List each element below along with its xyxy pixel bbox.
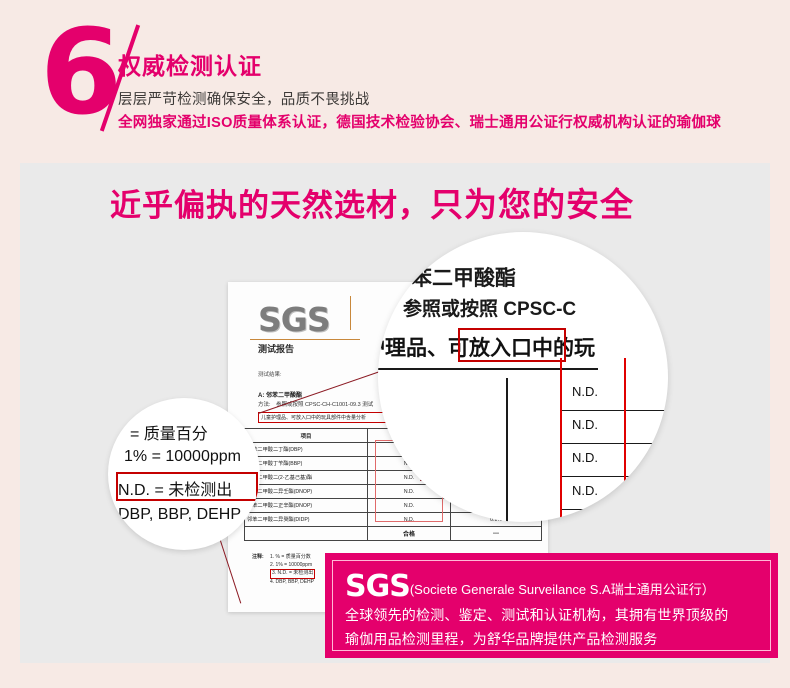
note-item: 1. % = 质量百分数: [270, 554, 315, 562]
banner-inner-border: SGS(Societe Generale Surveilance S.A瑞士通用…: [332, 560, 771, 651]
cell-blank: [245, 527, 368, 541]
cell-conclusion: 合格: [368, 527, 451, 541]
note-item: 2. 1% = 10000ppm: [270, 562, 315, 570]
cell-item: 邻苯二甲酸丁苄酯(BBP): [245, 457, 368, 471]
crosshair-vertical-icon: [350, 296, 351, 330]
magnifier-top-right: 邻苯二甲酸酯 ：参照或按照 CPSC-C 护理品、可放入口中的玩 N.D. N.…: [378, 232, 668, 522]
section-header: 6 权威检测认证 层层严苛检测确保安全，品质不畏挑战 全网独家通过ISO质量体系…: [0, 0, 790, 163]
magnifier-tr-nd-highlight-border: [560, 358, 626, 522]
document-sample-line: A: 邻苯二甲酸酯: [258, 390, 302, 399]
cell-item: 邻苯二甲酸二异壬酯(DNOP): [245, 485, 368, 499]
banner-full-name: (Societe Generale Surveilance S.A瑞士通用公证行…: [410, 579, 715, 598]
magnifier-tr-table-edge: [506, 378, 508, 522]
magnifier-left-highlight-box: [116, 472, 258, 501]
cell-result: N.D.: [368, 513, 451, 527]
magnifier-left: = 质量百分 1% = 10000ppm N.D. = 未检测出 DBP, BB…: [108, 398, 260, 550]
document-notes: 注释: 1. % = 质量百分数 2. 1% = 10000ppm 3. N.D…: [270, 554, 315, 586]
column-header-item: 项目: [245, 429, 368, 443]
note-item-highlighted: 3. N.D. = 未检测出: [270, 569, 315, 579]
table-conclusion-row: 合格 ---: [245, 527, 542, 541]
page-title-normal: 近乎偏执的天然选材，: [110, 188, 430, 223]
header-title: 权威检测认证: [118, 47, 262, 81]
cell-item: 邻苯二甲酸二丁酯(DBP): [245, 443, 368, 457]
cell-item: 邻苯二甲酸二正辛酯(DNOP): [245, 499, 368, 513]
note-item: 4. DBP, BBP, DEHP: [270, 579, 315, 587]
banner-sgs-logo: SGS: [345, 569, 410, 604]
magnifier-tr-highlight-box: [458, 328, 566, 362]
page-title: 近乎偏执的天然选材，只为您的安全: [110, 178, 634, 226]
cell-result: N.D.: [368, 499, 451, 513]
sgs-logo-icon: SGS: [258, 300, 330, 339]
banner-line3: 瑜伽用品检测里程，为舒华品牌提供产品检测服务: [345, 629, 758, 649]
magnifier-tr-line1: 邻苯二甲酸酯: [390, 262, 516, 292]
header-subtitle-secondary: 全网独家通过ISO质量体系认证，德国技术检验协会、瑞士通用公证行权威机构认证的瑜…: [118, 111, 721, 132]
page-title-strong: 只为您的安全: [430, 186, 634, 223]
document-report-label: 测试报告: [258, 342, 294, 355]
cell-item: 邻苯二甲酸二异癸酯(DIDP): [245, 513, 368, 527]
magnifier-tr-line2: ：参照或按照 CPSC-C: [384, 294, 576, 321]
sgs-description-banner: SGS(Societe Generale Surveilance S.A瑞士通用…: [325, 553, 778, 658]
notes-label: 注释:: [252, 554, 264, 562]
page-root: 6 权威检测认证 层层严苛检测确保安全，品质不畏挑战 全网独家通过ISO质量体系…: [0, 0, 790, 688]
magnifier-left-line1: = 质量百分: [130, 420, 208, 444]
magnifier-left-line2: 1% = 10000ppm: [124, 448, 241, 466]
cell-item: 邻苯二甲酸二(2-乙基己基)酯: [245, 471, 368, 485]
header-subtitle-primary: 层层严苛检测确保安全，品质不畏挑战: [118, 88, 370, 109]
cell-conclusion-limit: ---: [451, 527, 542, 541]
document-results-label: 测试结果:: [258, 370, 282, 378]
magnifier-left-line4: DBP, BBP, DEHP: [118, 506, 241, 524]
banner-line2: 全球领先的检测、鉴定、测试和认证机构，其拥有世界顶级的: [345, 605, 758, 625]
crosshair-horizontal-icon: [250, 339, 360, 340]
banner-title-row: SGS(Societe Generale Surveilance S.A瑞士通用…: [345, 569, 758, 604]
